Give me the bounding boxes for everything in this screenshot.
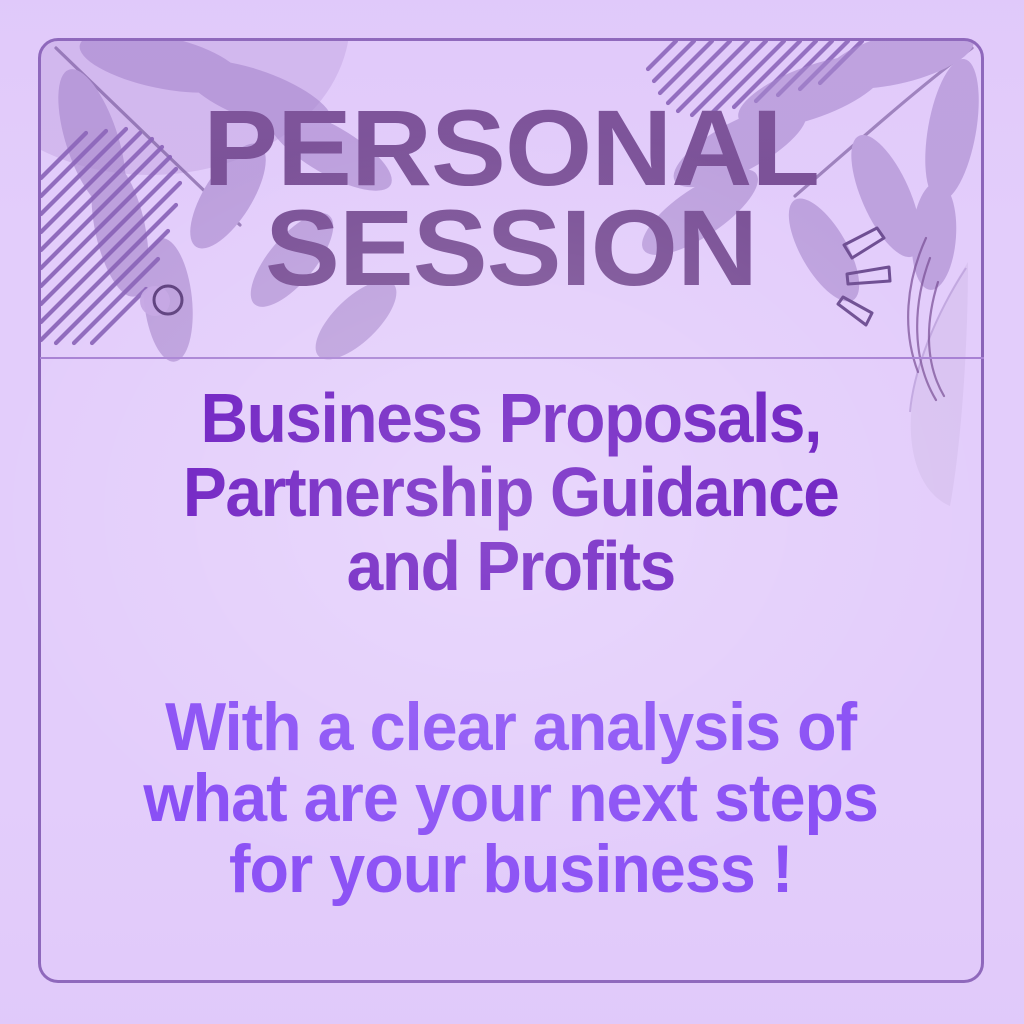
body-zone: Business Proposals, Partnership Guidance…: [38, 359, 984, 983]
subheading-line-3: and Profits: [183, 529, 839, 603]
header-zone: PERSONAL SESSION: [38, 38, 984, 357]
lede-line-3: for your business !: [144, 834, 879, 905]
page-title-line-2: SESSION: [203, 198, 819, 297]
lede-line-1: With a clear analysis of: [144, 692, 879, 763]
subheading: Business Proposals, Partnership Guidance…: [183, 381, 839, 604]
lede-line-2: what are your next steps: [144, 763, 879, 834]
page-title-line-1: PERSONAL: [203, 98, 819, 197]
poster-canvas: PERSONAL SESSION Business Proposals, Par…: [0, 0, 1024, 1024]
subheading-line-1: Business Proposals,: [183, 381, 839, 455]
lede-paragraph: With a clear analysis of what are your n…: [144, 692, 879, 906]
subheading-line-2: Partnership Guidance: [183, 455, 839, 529]
page-title: PERSONAL SESSION: [203, 98, 819, 297]
